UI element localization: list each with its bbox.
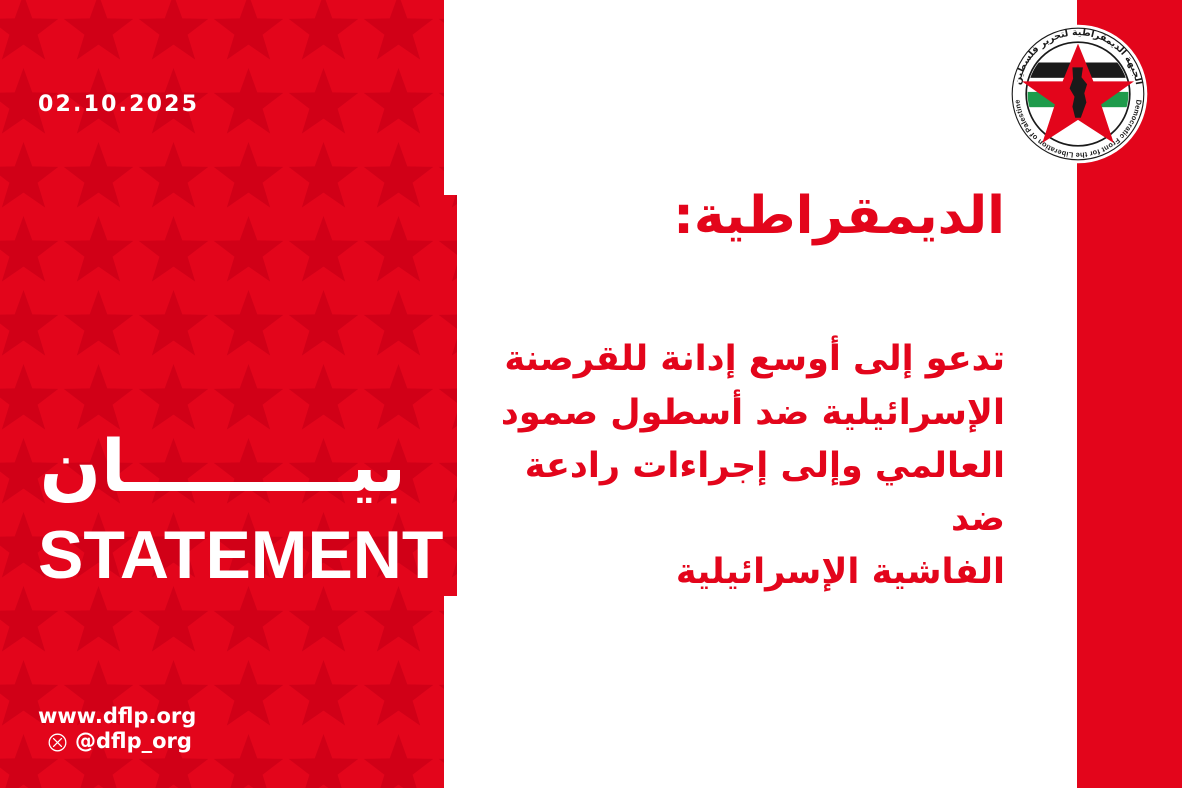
statement-poster: 02.10.2025 الجبهة الديمقراطية لتحرير فلس… [0,0,1182,788]
statement-title-arabic: بيـــــــــان [38,430,406,503]
website-link[interactable]: www.dflp.org [38,705,196,729]
dflp-emblem-logo: الجبهة الديمقراطية لتحرير فلسطين Democra… [1008,24,1148,164]
social-handle-text: @dflp_org [75,730,192,754]
headline: الديمقراطية: [485,186,1005,247]
statement-date: 02.10.2025 [38,92,199,117]
body-text: تدعو إلى أوسع إدانة للقرصنة الإسرائيلية … [485,333,1005,599]
body-line: الفاشية الإسرائيلية [485,546,1005,599]
x-twitter-icon [48,733,67,752]
body-line: تدعو إلى أوسع إدانة للقرصنة [485,333,1005,386]
statement-title-english: STATEMENT [38,521,406,590]
footer: www.dflp.org @dflp_org [38,705,196,754]
left-title-block: بيـــــــــان STATEMENT [0,430,444,591]
body-line: الإسرائيلية ضد أسطول صمود [485,387,1005,440]
main-content: الديمقراطية: تدعو إلى أوسع إدانة للقرصنة… [485,186,1005,599]
social-handle-row[interactable]: @dflp_org [38,730,196,754]
body-line: العالمي وإلى إجراءات رادعة ضد [485,440,1005,546]
